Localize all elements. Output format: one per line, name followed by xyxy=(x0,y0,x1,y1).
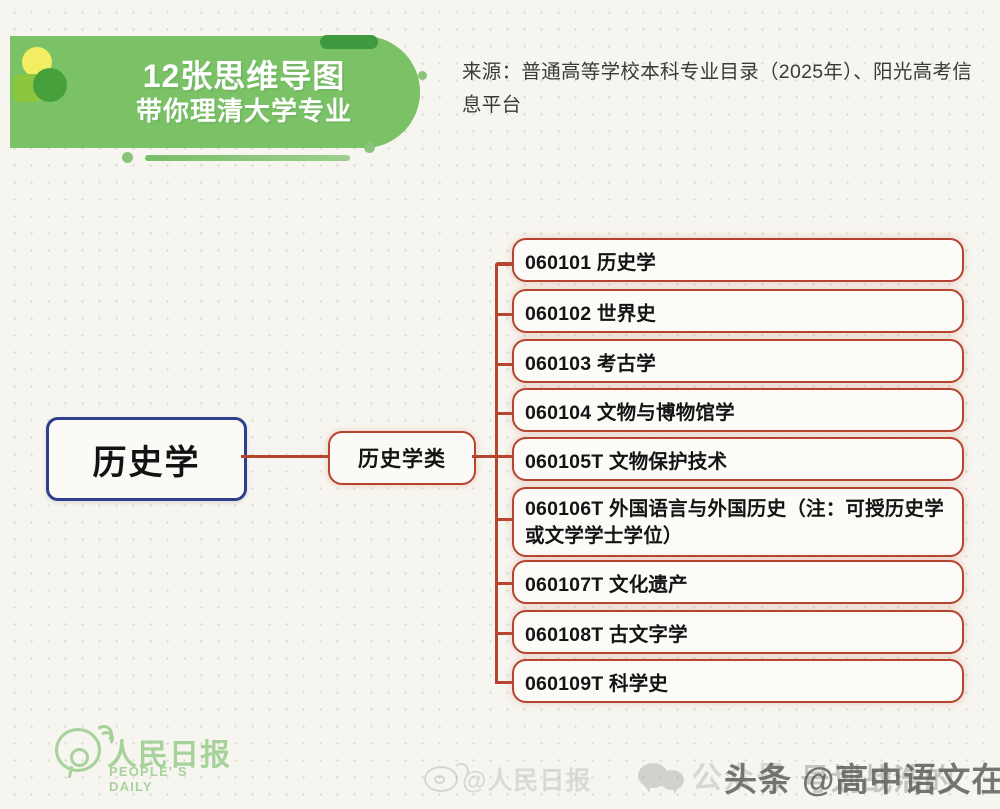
weibo-handle-text: @人民日报 xyxy=(462,761,591,797)
tree-spine-upper xyxy=(495,264,498,456)
category-node-history-class: 历史学类 xyxy=(328,431,476,485)
major-box-9: 060109T 科学史 xyxy=(512,659,964,703)
weibo-icon xyxy=(424,766,458,792)
branch-stub-8 xyxy=(495,632,513,635)
green-bar-decoration xyxy=(145,155,350,161)
green-dot-bottom-left-decoration xyxy=(122,152,133,163)
major-label-8: 060108T 古文字学 xyxy=(525,618,688,647)
major-box-4: 060104 文物与博物馆学 xyxy=(512,388,964,432)
major-label-3: 060103 考古学 xyxy=(525,347,656,376)
source-note: 来源：普通高等学校本科专业目录（2025年）、阳光高考信息平台 xyxy=(462,56,982,122)
major-box-5: 060105T 文物保护技术 xyxy=(512,437,964,481)
banner-shape: 12张思维导图 带你理清大学专业 xyxy=(10,36,420,148)
major-label-4: 060104 文物与博物馆学 xyxy=(525,396,735,425)
tree-spine-lower xyxy=(495,455,498,683)
branch-stub-6 xyxy=(495,518,513,521)
banner-title-line1: 12张思维导图 xyxy=(143,58,346,94)
major-box-1: 060101 历史学 xyxy=(512,238,964,282)
branch-stub-4 xyxy=(495,412,513,415)
account-handle-text: @高中语文在线 xyxy=(802,761,1000,798)
branch-stub-7 xyxy=(495,582,513,585)
at-symbol-inner-icon xyxy=(70,748,89,767)
major-label-2: 060102 世界史 xyxy=(525,297,656,326)
connector-root-to-category xyxy=(241,455,329,458)
weibo-watermark: @人民日报 xyxy=(424,762,591,796)
banner-title: 12张思维导图 带你理清大学专业 xyxy=(10,36,420,148)
account-watermark: 头条 @高中语文在线 xyxy=(724,753,1000,801)
weibo-arc-icon xyxy=(453,763,469,779)
major-box-7: 060107T 文化遗产 xyxy=(512,560,964,604)
root-node-history: 历史学 xyxy=(46,417,247,501)
major-label-6: 060106T 外国语言与外国历史（注：可授历史学或文学学士学位） xyxy=(525,496,951,550)
branch-stub-5 xyxy=(495,455,513,458)
peoples-daily-logo: 人民日报 PEOPLE' S DAILY xyxy=(55,722,235,784)
peoples-daily-en-text: PEOPLE' S DAILY xyxy=(109,764,235,794)
major-label-9: 060109T 科学史 xyxy=(525,667,668,696)
major-label-1: 060101 历史学 xyxy=(525,246,656,275)
major-box-2: 060102 世界史 xyxy=(512,289,964,333)
major-label-7: 060107T 文化遗产 xyxy=(525,568,688,597)
root-node-label: 历史学 xyxy=(93,435,201,484)
branch-stub-1 xyxy=(495,262,513,265)
branch-stub-2 xyxy=(495,313,513,316)
branch-stub-3 xyxy=(495,363,513,366)
banner-title-line2: 带你理清大学专业 xyxy=(136,96,352,126)
major-box-3: 060103 考古学 xyxy=(512,339,964,383)
category-node-label: 历史学类 xyxy=(358,443,446,473)
wechat-icon-bubble-small xyxy=(660,770,684,790)
major-label-5: 060105T 文物保护技术 xyxy=(525,445,727,474)
toutiao-label-text: 头条 xyxy=(724,761,792,798)
header-banner: 12张思维导图 带你理清大学专业 xyxy=(0,16,440,148)
infographic-canvas: 12张思维导图 带你理清大学专业 来源：普通高等学校本科专业目录（2025年）、… xyxy=(0,0,1000,809)
major-box-6: 060106T 外国语言与外国历史（注：可授历史学或文学学士学位） xyxy=(512,487,964,557)
branch-stub-9 xyxy=(495,681,513,684)
major-box-8: 060108T 古文字学 xyxy=(512,610,964,654)
